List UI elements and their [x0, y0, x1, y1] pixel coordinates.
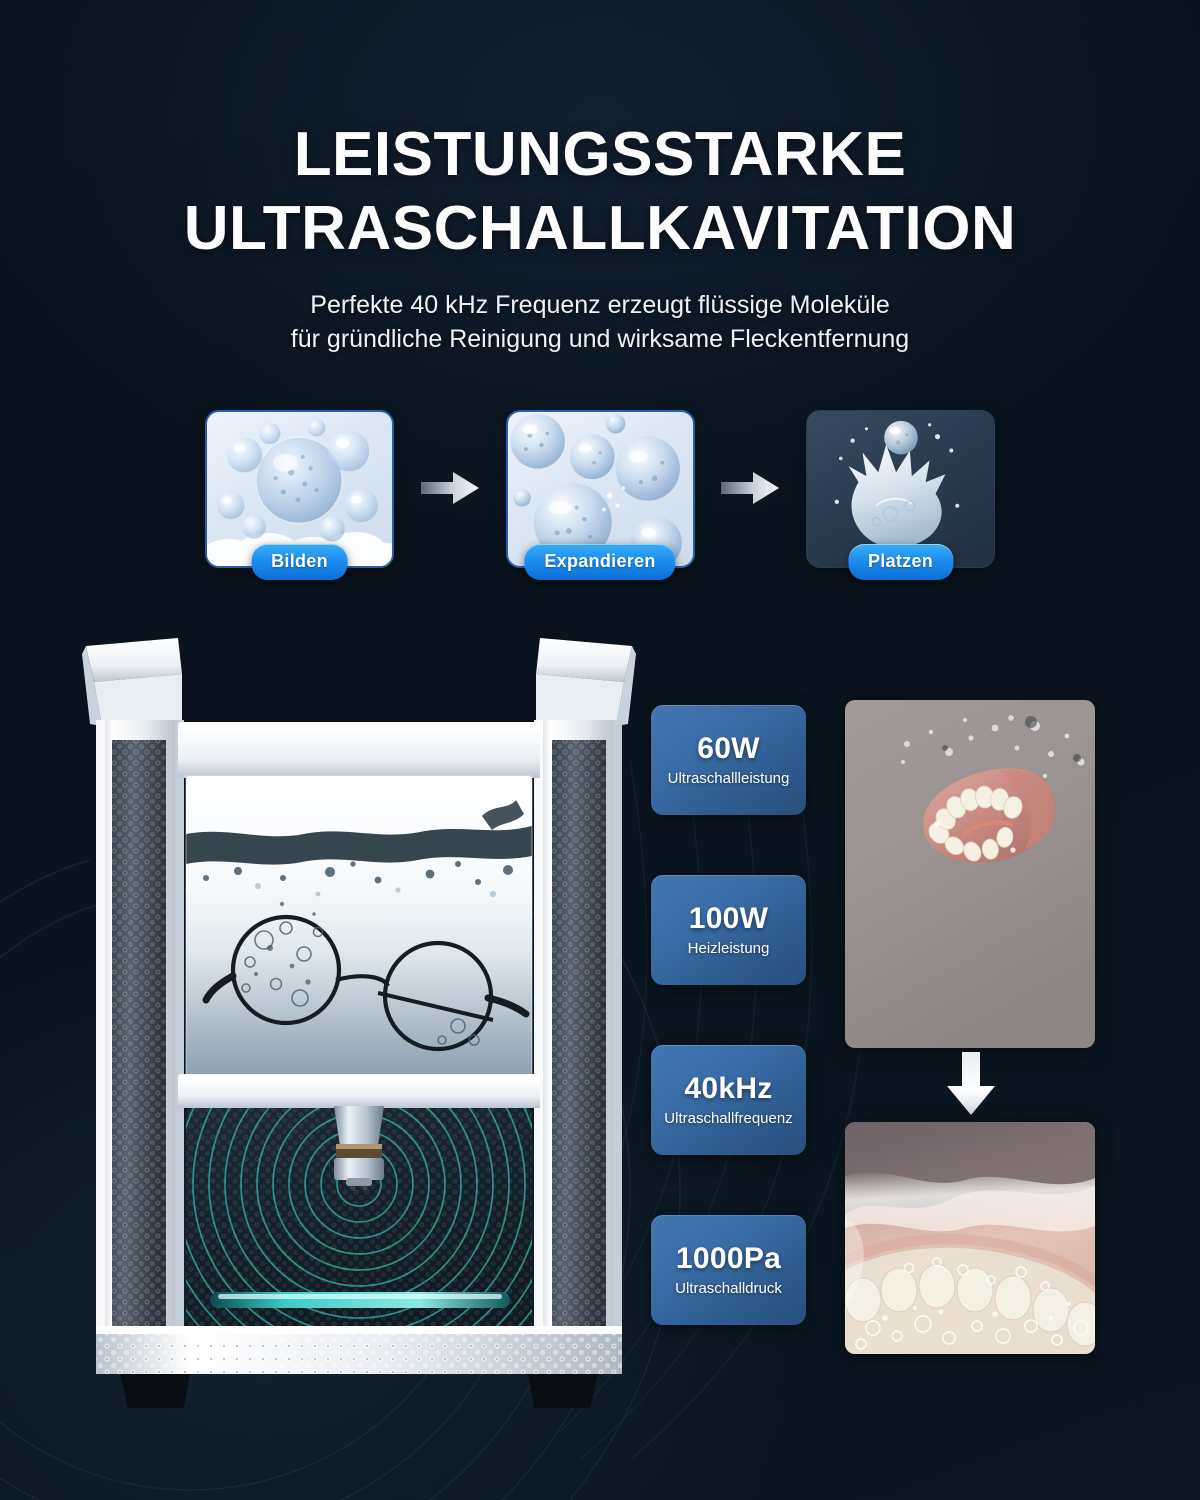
spec-label: Ultraschalldruck [675, 1279, 782, 1298]
spec-value: 40kHz [684, 1072, 772, 1106]
page-title: LEISTUNGSSTARKE ULTRASCHALLKAVITATION [0, 118, 1200, 266]
spec-value: 1000Pa [676, 1242, 781, 1276]
spec-badge-list: 60W Ultraschallleistung 100W Heizleistun… [651, 705, 806, 1325]
ultrasonic-cleaner-cutaway [78, 628, 640, 1408]
step-card-platzen: Platzen [806, 410, 995, 568]
spec-label: Ultraschallfrequenz [664, 1109, 792, 1128]
subtitle-line-1: Perfekte 40 kHz Frequenz erzeugt flüssig… [0, 288, 1200, 322]
spec-badge-ultrasonic-power: 60W Ultraschallleistung [651, 705, 806, 815]
step-label-platzen: Platzen [848, 544, 953, 580]
spec-label: Heizleistung [688, 939, 770, 958]
step-arrow-1 [419, 468, 481, 508]
device-left-pillar [96, 720, 184, 1340]
photo-flow-arrow-down [945, 1052, 997, 1116]
device-base [96, 1326, 622, 1408]
ultrasonic-transducer [334, 1106, 384, 1190]
spec-label: Ultraschallleistung [668, 769, 790, 788]
title-line-2: ULTRASCHALLKAVITATION [0, 192, 1200, 266]
spec-badge-ultrasonic-pressure: 1000Pa Ultraschalldruck [651, 1215, 806, 1325]
step-card-expandieren: Expandieren [506, 410, 695, 568]
step-card-bilden: Bilden [205, 410, 394, 568]
spec-badge-ultrasonic-frequency: 40kHz Ultraschallfrequenz [651, 1045, 806, 1155]
step-label-expandieren: Expandieren [524, 544, 675, 580]
bubbles-expanding-icon [508, 412, 693, 566]
spec-value: 60W [697, 732, 760, 766]
title-line-1: LEISTUNGSSTARKE [0, 118, 1200, 192]
page-subtitle: Perfekte 40 kHz Frequenz erzeugt flüssig… [0, 288, 1200, 356]
spec-value: 100W [689, 902, 769, 936]
spec-badge-heating-power: 100W Heizleistung [651, 875, 806, 985]
dentures-closeup-bubbles-photo [845, 1122, 1095, 1354]
device-right-pillar [534, 720, 622, 1340]
step-arrow-2 [719, 468, 781, 508]
device-foot-right [528, 1374, 598, 1408]
bubbles-forming-icon [207, 412, 392, 566]
subtitle-line-2: für gründliche Reinigung und wirksame Fl… [0, 322, 1200, 356]
device-foot-left [120, 1374, 190, 1408]
dentures-in-water-photo [845, 700, 1095, 1048]
step-label-bilden: Bilden [251, 544, 348, 580]
header: LEISTUNGSSTARKE ULTRASCHALLKAVITATION Pe… [0, 118, 1200, 356]
cavitation-steps: Bilden [205, 410, 995, 570]
tank-interior-water [186, 776, 532, 1078]
